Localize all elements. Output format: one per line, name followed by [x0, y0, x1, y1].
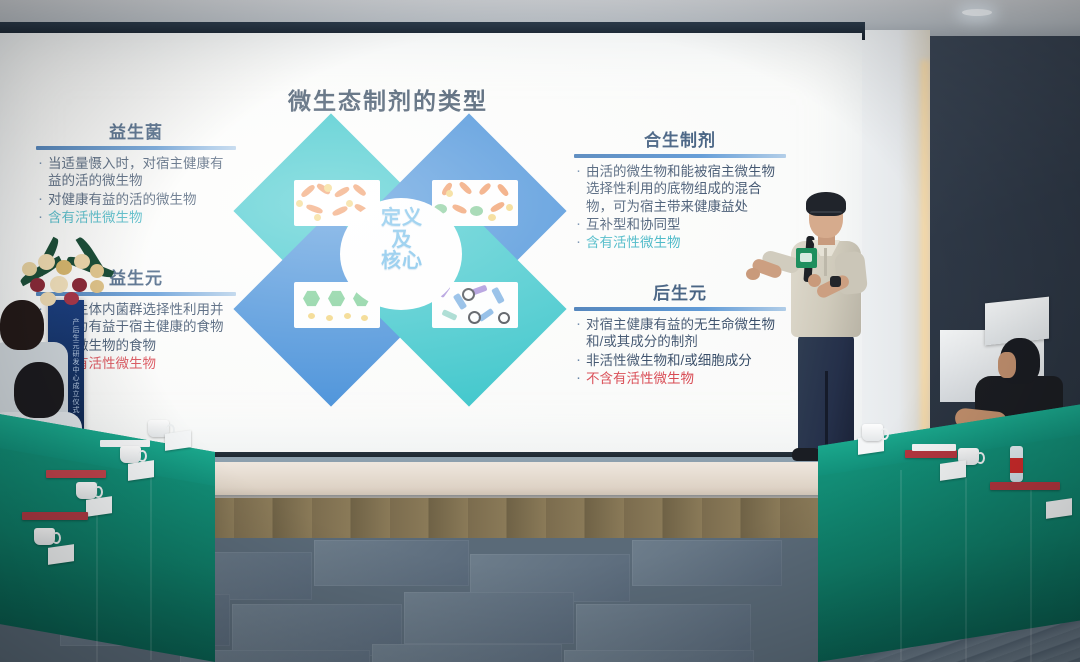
slide-title: 微生态制剂的类型 — [288, 82, 488, 116]
name-card-text — [940, 465, 966, 469]
bullet-item: 对宿主健康有益的无生命微生物和/或其成分的制剂 — [574, 316, 786, 351]
carpet-tile — [564, 650, 754, 662]
folder-icon — [905, 450, 957, 458]
carpet-tile — [632, 540, 782, 586]
conference-room-photo: 微生态制剂的类型 益生菌 当适量慑入时，对宿主健康有益的活的微生物 对健康有益的… — [0, 0, 1080, 662]
folder-icon — [22, 512, 88, 520]
flower-bloom — [40, 292, 56, 306]
block-heading-probiotics: 益生菌 — [36, 118, 236, 143]
name-card — [128, 460, 154, 481]
carpet-tile — [404, 592, 574, 644]
name-card-text — [48, 549, 74, 553]
name-card — [86, 496, 112, 517]
ceiling-light-icon — [962, 9, 992, 16]
name-card — [1046, 498, 1072, 519]
presenter-placket — [824, 248, 827, 276]
flower-bloom — [38, 254, 55, 270]
wristwatch-icon — [830, 276, 841, 287]
slide-block-synbiotics: 合生制剂 由活的微生物和能被宿主微生物选择性利用的底物组成的混合物，可为宿主带来… — [574, 126, 786, 252]
paper-sheet — [912, 444, 956, 451]
slide-block-postbiotics: 后生元 对宿主健康有益的无生命微生物和/或其成分的制剂 非活性微生物和/或细胞成… — [574, 279, 786, 388]
folder-icon — [46, 470, 106, 478]
bullet-item: 当适量慑入时，对宿主健康有益的活的微生物 — [36, 155, 236, 190]
flower-bloom — [72, 278, 87, 292]
flower-bloom — [74, 254, 90, 269]
mug-icon — [120, 446, 141, 463]
block-bullets-probiotics: 当适量慑入时，对宿主健康有益的活的微生物 对健康有益的活的微生物 含有活性微生物 — [36, 155, 236, 226]
center-label-line: 核心 — [362, 251, 442, 273]
block-rule — [574, 154, 786, 158]
flower-bloom — [90, 280, 104, 293]
flower-bloom — [90, 264, 104, 278]
attendee-left-1-head — [0, 300, 44, 350]
block-heading-synbiotics: 合生制剂 — [574, 126, 786, 151]
cloth-fold — [1030, 488, 1032, 662]
name-card-text — [1046, 503, 1072, 507]
center-label-line: 定义 — [362, 208, 442, 230]
four-quadrant-diagram: 定义 及 核心 — [252, 136, 552, 381]
attendee-right-face — [998, 352, 1016, 378]
flower-bloom — [64, 292, 79, 305]
mug-icon — [76, 482, 97, 499]
presenter-left-hand — [746, 268, 760, 280]
block-rule — [36, 146, 236, 150]
attendee-left-2-head — [14, 362, 64, 418]
flower-bloom — [30, 278, 45, 292]
cloth-fold — [900, 470, 902, 660]
carpet-tile — [576, 604, 751, 656]
center-label-line: 及 — [362, 230, 442, 252]
presenter-right-hand — [808, 274, 821, 287]
diagram-center-label: 定义 及 核心 — [362, 208, 442, 273]
name-card-text — [165, 435, 191, 439]
block-heading-postbiotics: 后生元 — [574, 279, 786, 304]
bullet-item-highlight: 不含有活性微生物 — [574, 370, 786, 387]
mug-icon — [34, 528, 55, 545]
name-card — [48, 544, 74, 565]
cloth-fold — [965, 478, 967, 662]
flower-bloom — [50, 276, 68, 293]
name-card — [165, 430, 191, 451]
block-rule — [574, 307, 786, 311]
bullet-item-highlight: 含有活性微生物 — [574, 234, 786, 251]
bullet-item: 对健康有益的活的微生物 — [36, 191, 236, 208]
name-card — [940, 460, 966, 481]
microphone-flag-logo — [800, 253, 812, 262]
bullet-item: 非活性微生物和/或细胞成分 — [574, 352, 786, 369]
flower-bloom — [22, 262, 37, 276]
carpet-tile — [372, 644, 562, 662]
block-bullets-postbiotics: 对宿主健康有益的无生命微生物和/或其成分的制剂 非活性微生物和/或细胞成分 不含… — [574, 316, 786, 387]
bottle-label — [1010, 458, 1023, 473]
block-bullets-synbiotics: 由活的微生物和能被宿主微生物选择性利用的底物组成的混合物，可为宿主带来健康益处 … — [574, 163, 786, 251]
trouser-seam — [825, 371, 828, 451]
carpet-tile — [314, 540, 469, 586]
name-card-text — [86, 501, 112, 505]
bullet-item: 由活的微生物和能被宿主微生物选择性利用的底物组成的混合物，可为宿主带来健康益处 — [574, 163, 786, 215]
bullet-item-highlight: 含有活性微生物 — [36, 209, 236, 226]
presentation-slide: 微生态制剂的类型 益生菌 当适量慑入时，对宿主健康有益的活的微生物 对健康有益的… — [0, 36, 860, 454]
name-card-text — [128, 465, 154, 469]
cloth-fold — [150, 470, 152, 660]
glasses-icon — [810, 211, 842, 220]
bullet-item: 互补型和协同型 — [574, 216, 786, 233]
water-bottle-icon — [1010, 446, 1023, 482]
slide-block-probiotics: 益生菌 当适量慑入时，对宿主健康有益的活的微生物 对健康有益的活的微生物 含有活… — [36, 118, 236, 227]
folder-icon — [990, 482, 1060, 490]
flower-bloom — [56, 260, 72, 275]
mug-icon — [862, 424, 883, 441]
